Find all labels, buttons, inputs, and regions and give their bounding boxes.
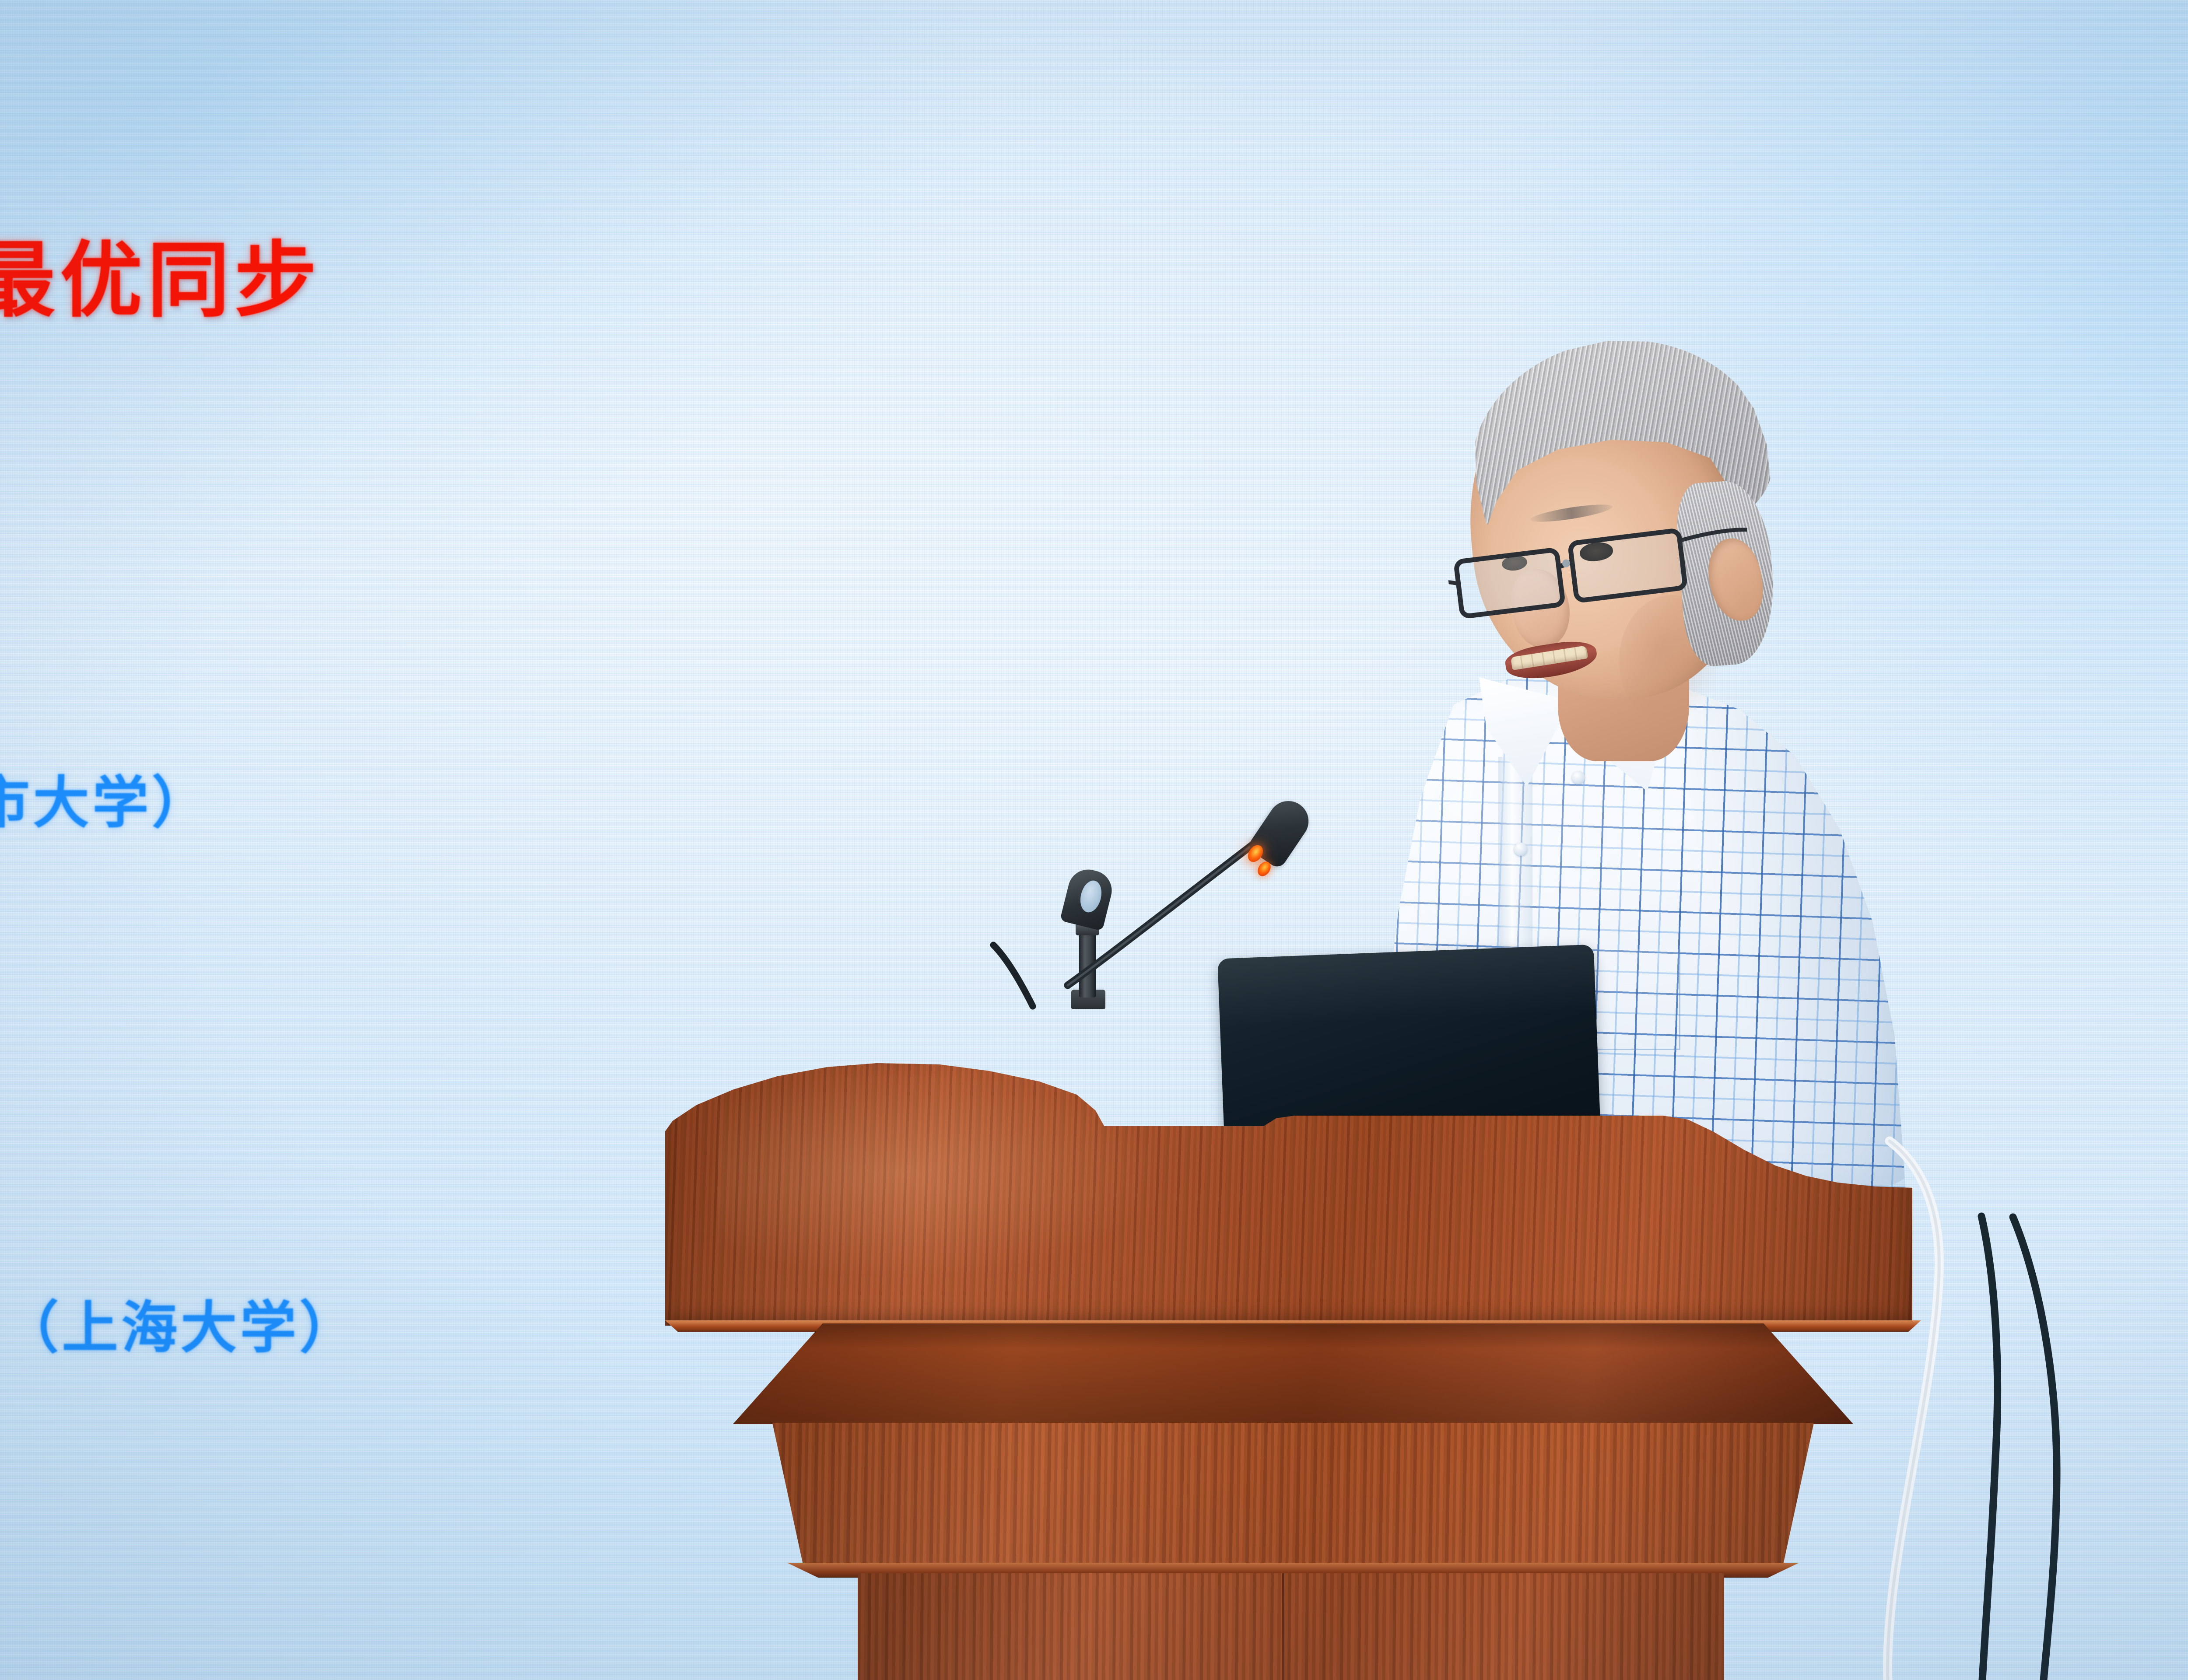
lens-vignette [0,0,2188,1680]
presentation-photo: 最优同步 市大学） （上海大学） [0,0,2188,1680]
